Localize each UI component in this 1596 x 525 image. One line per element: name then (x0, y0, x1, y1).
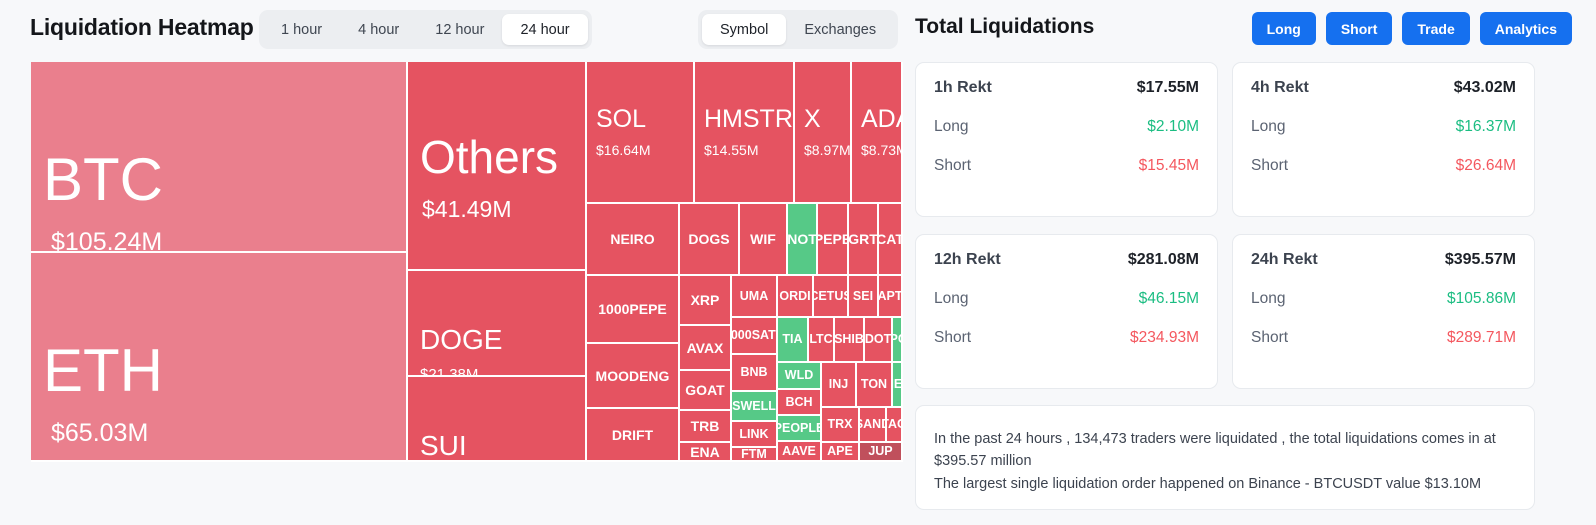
treemap-cell-tia[interactable]: TIA$2.00M (778, 318, 809, 363)
summary-card: In the past 24 hours , 134,473 traders w… (915, 405, 1535, 510)
treemap-cell-moodeng[interactable]: MOODENG$4.70M (587, 344, 680, 409)
treemap-cell-apt[interactable]: APT$2.05M (879, 276, 903, 318)
liquidation-heatmap-page: Liquidation Heatmap 1 hour4 hour12 hour2… (0, 0, 1596, 525)
stat-period-label: 4h Rekt (1251, 79, 1309, 97)
treemap-cell-xrp[interactable]: XRP$3.30M (680, 276, 732, 326)
treemap-cell-label: BNB (740, 366, 767, 379)
treemap-cell-label: LTC (809, 333, 832, 346)
treemap-cell-tao[interactable]: TAO$1.25M (887, 408, 903, 443)
treemap-cell-sei[interactable]: SEI$2.15M (849, 276, 879, 318)
treemap-cell-dogs[interactable]: DOGS$5.10M (680, 204, 740, 276)
treemap-cell-ape[interactable]: APE$1.20M (822, 443, 860, 462)
mode-symbol[interactable]: Symbol (702, 14, 786, 45)
stat-long-label: Long (1251, 118, 1285, 136)
treemap-cell-wld[interactable]: WLD$1.90M (778, 363, 822, 390)
treemap-cell-label: XRP (691, 293, 720, 307)
treemap-cell-trb[interactable]: TRB$2.70M (680, 411, 732, 443)
treemap-cell-label: GRT (849, 232, 878, 246)
treemap-cell-value: $16.64M (596, 143, 693, 157)
treemap-cell-label: NOT (788, 232, 817, 246)
treemap-cell-value: $21.38M (420, 367, 585, 377)
timeframe-1-hour[interactable]: 1 hour (263, 14, 340, 45)
stat-short-label: Short (1251, 329, 1288, 347)
stat-card-24h: 24h Rekt$395.57MLong$105.86MShort$289.71… (1232, 234, 1535, 389)
treemap-cell-label: TRB (691, 419, 720, 433)
treemap-cell-avax[interactable]: AVAX$3.10M (680, 326, 732, 371)
timeframe-12-hour[interactable]: 12 hour (417, 14, 502, 45)
treemap-cell-link[interactable]: LINK$1.80M (732, 422, 778, 448)
treemap-cell-others[interactable]: Others$41.49M (408, 62, 587, 271)
stat-card-1h: 1h Rekt$17.55MLong$2.10MShort$15.45M (915, 62, 1218, 217)
summary-line-2: The largest single liquidation order hap… (934, 473, 1516, 495)
stat-period-label: 24h Rekt (1251, 251, 1318, 269)
treemap-cell-label: BCH (785, 396, 812, 409)
treemap-cell-swell[interactable]: SWELL$1.95M (732, 392, 778, 422)
treemap-cell-btc[interactable]: BTC$105.24M (31, 62, 408, 253)
stat-long-value: $105.86M (1447, 290, 1516, 308)
treemap-cell-label: CETUS (814, 290, 849, 303)
treemap-cell-label: DOGS (688, 232, 729, 246)
analytics-button[interactable]: Analytics (1480, 12, 1572, 45)
treemap-cell-label: DRIFT (612, 428, 653, 442)
treemap-cell-goat[interactable]: GOAT$2.90M (680, 371, 732, 411)
treemap-cell-label: SOL (596, 107, 693, 132)
treemap-cell-people[interactable]: PEOPLE$1.60M (778, 416, 822, 442)
treemap-cell-shib[interactable]: SHIB$1.80M (835, 318, 865, 363)
treemap-cell-label: DOGE (420, 326, 585, 354)
treemap-cell-label: NEIRO (610, 232, 654, 246)
treemap-cell-label: POPCAT (893, 333, 903, 346)
treemap-cell-label: WIF (750, 232, 776, 246)
stat-short-value: $15.45M (1139, 157, 1199, 175)
treemap-cell-label: ORDI (779, 290, 810, 303)
timeframe-segmented-control[interactable]: 1 hour4 hour12 hour24 hour (259, 10, 592, 49)
stat-total-value: $395.57M (1445, 251, 1516, 269)
treemap-cell-sui[interactable]: SUI$18.18M (408, 377, 587, 462)
header-action-buttons: LongShortTradeAnalytics (1252, 12, 1572, 45)
total-liquidations-title: Total Liquidations (915, 15, 1094, 39)
timeframe-24-hour[interactable]: 24 hour (502, 14, 587, 45)
treemap-cell-doge[interactable]: DOGE$21.38M (408, 271, 587, 377)
treemap-cell-label: SHIB (835, 333, 864, 346)
treemap-cell-drift[interactable]: DRIFT$4.10M (587, 409, 680, 462)
stat-long-label: Long (1251, 290, 1285, 308)
treemap-cell-label: TON (861, 378, 887, 391)
treemap-cell-label: SAND (860, 418, 887, 431)
stat-short-value: $234.93M (1130, 329, 1199, 347)
treemap-cell-label: PEPE (818, 232, 849, 246)
stat-period-label: 12h Rekt (934, 251, 1001, 269)
header-bar: Liquidation Heatmap 1 hour4 hour12 hour2… (0, 0, 1596, 58)
long-button[interactable]: Long (1252, 12, 1316, 45)
treemap-cell-label: APE (827, 445, 853, 458)
treemap-cell-eth[interactable]: ETH$65.03M (31, 253, 408, 462)
treemap-cell-label: PEOPLE (778, 422, 822, 435)
treemap-cell-ordi[interactable]: ORDI$2.30M (778, 276, 814, 318)
treemap-cell-uma[interactable]: UMA$2.40M (732, 276, 778, 318)
stat-total-value: $17.55M (1137, 79, 1199, 97)
treemap-cell-jup[interactable]: JUP$1.10M (860, 443, 903, 462)
stat-card-12h: 12h Rekt$281.08MLong$46.15MShort$234.93M (915, 234, 1218, 389)
treemap-cell-value: $8.97M (804, 143, 850, 157)
treemap-cell-bch[interactable]: BCH$1.75M (778, 390, 822, 416)
treemap-cell-ton[interactable]: TON$1.50M (857, 363, 893, 408)
treemap-cell-ftm[interactable]: FTM$1.70M (732, 448, 778, 462)
treemap-cell-bnb[interactable]: BNB$2.10M (732, 355, 778, 392)
treemap-cell-not[interactable]: NOT$4.20M (788, 204, 818, 276)
treemap-cell-1000sats[interactable]: 1000SATS$2.20M (732, 318, 778, 355)
treemap-cell-label: SHELL (893, 378, 903, 391)
treemap-cell-label: BTC (43, 150, 406, 210)
treemap-cell-label: AAVE (782, 445, 816, 458)
treemap-cell-ena[interactable]: ENA$2.50M (680, 443, 732, 462)
treemap-cell-label: 1000SATS (732, 329, 778, 342)
treemap-cell-shell[interactable]: SHELL$1.45M (893, 363, 903, 408)
stat-period-label: 1h Rekt (934, 79, 992, 97)
treemap-cell-grt[interactable]: GRT$3.60M (849, 204, 879, 276)
stat-long-label: Long (934, 290, 968, 308)
treemap-cell-cetus[interactable]: CETUS$2.25M (814, 276, 849, 318)
treemap-cell-label: FTM (741, 448, 767, 460)
treemap-cell-neiro[interactable]: NEIRO$7.42M (587, 204, 680, 276)
treemap-cell-wif[interactable]: WIF$4.60M (740, 204, 788, 276)
treemap-cell-label: SEI (853, 290, 873, 303)
treemap-cell-inj[interactable]: INJ$1.55M (822, 363, 857, 408)
treemap-cell-hmstr[interactable]: HMSTR$14.55M (695, 62, 795, 204)
stat-total-value: $281.08M (1128, 251, 1199, 269)
treemap-cell-ada[interactable]: ADA$8.73M (852, 62, 903, 204)
treemap-cell-dot[interactable]: DOT$1.70M (865, 318, 893, 363)
treemap-cell-label: CAT (879, 232, 903, 246)
treemap-cell-label: GOAT (685, 383, 724, 397)
treemap-cell-pepe[interactable]: PEPE$3.90M (818, 204, 849, 276)
stat-long-value: $2.10M (1147, 118, 1199, 136)
treemap-cell-label: DOT (865, 333, 891, 346)
stat-total-value: $43.02M (1454, 79, 1516, 97)
treemap-cell-value: $65.03M (43, 421, 406, 446)
treemap-cell-label: JUP (868, 445, 892, 458)
stat-long-value: $16.37M (1456, 118, 1516, 136)
treemap-cell-cat[interactable]: CAT$3.40M (879, 204, 903, 276)
treemap-cell-label: MOODENG (596, 369, 670, 383)
treemap-cell-label: TRX (828, 418, 853, 431)
treemap-cell-label: X (804, 107, 850, 132)
timeframe-4-hour[interactable]: 4 hour (340, 14, 417, 45)
treemap-cell-label: SWELL (732, 400, 776, 413)
treemap-cell-label: SUI (420, 432, 585, 460)
stat-long-label: Long (934, 118, 968, 136)
liquidation-treemap[interactable]: BTC$105.24METH$65.03MOthers$41.49MDOGE$2… (31, 62, 903, 462)
treemap-cell-label: INJ (829, 378, 848, 391)
treemap-cell-value: $105.24M (43, 230, 406, 253)
stat-short-value: $289.71M (1447, 329, 1516, 347)
treemap-cell-sol[interactable]: SOL$16.64M (587, 62, 695, 204)
stat-short-value: $26.64M (1456, 157, 1516, 175)
treemap-cell-label: Others (420, 134, 585, 180)
treemap-cell-label: UMA (740, 290, 768, 303)
treemap-cell-label: AVAX (687, 341, 724, 355)
treemap-cell-label: TIA (782, 333, 802, 346)
treemap-cell-label: WLD (785, 369, 813, 382)
treemap-cell-popcat[interactable]: POPCAT$1.65M (893, 318, 903, 363)
mode-segmented-control[interactable]: SymbolExchanges (698, 10, 898, 49)
summary-line-1: In the past 24 hours , 134,473 traders w… (934, 428, 1516, 473)
treemap-cell-value: $41.49M (420, 198, 585, 221)
treemap-cell-label: HMSTR (704, 107, 793, 132)
mode-exchanges[interactable]: Exchanges (786, 14, 894, 45)
treemap-cell-aave[interactable]: AAVE$1.50M (778, 442, 822, 462)
treemap-cell-label: 1000PEPE (598, 302, 667, 316)
treemap-cell-sand[interactable]: SAND$1.30M (860, 408, 887, 443)
trade-button[interactable]: Trade (1402, 12, 1469, 45)
treemap-cell-label: APT (879, 290, 903, 303)
stat-long-value: $46.15M (1139, 290, 1199, 308)
stat-short-label: Short (934, 329, 971, 347)
treemap-cell-label: ENA (690, 445, 720, 459)
treemap-cell-ltc[interactable]: LTC$1.85M (809, 318, 835, 363)
treemap-cell-value: $14.55M (704, 143, 793, 157)
treemap-cell-1000pepe[interactable]: 1000PEPE$4.95M (587, 276, 680, 344)
stat-short-label: Short (934, 157, 971, 175)
short-button[interactable]: Short (1326, 12, 1393, 45)
stat-card-4h: 4h Rekt$43.02MLong$16.37MShort$26.64M (1232, 62, 1535, 217)
treemap-cell-label: ETH (43, 341, 406, 401)
treemap-cell-x[interactable]: X$8.97M (795, 62, 852, 204)
treemap-cell-trx[interactable]: TRX$1.40M (822, 408, 860, 443)
treemap-cell-value: $8.73M (861, 143, 901, 157)
page-title: Liquidation Heatmap (30, 14, 254, 41)
treemap-cell-label: ADA (861, 107, 901, 132)
stat-short-label: Short (1251, 157, 1288, 175)
treemap-cell-label: TAO (887, 418, 903, 431)
treemap-cell-label: LINK (739, 428, 768, 441)
